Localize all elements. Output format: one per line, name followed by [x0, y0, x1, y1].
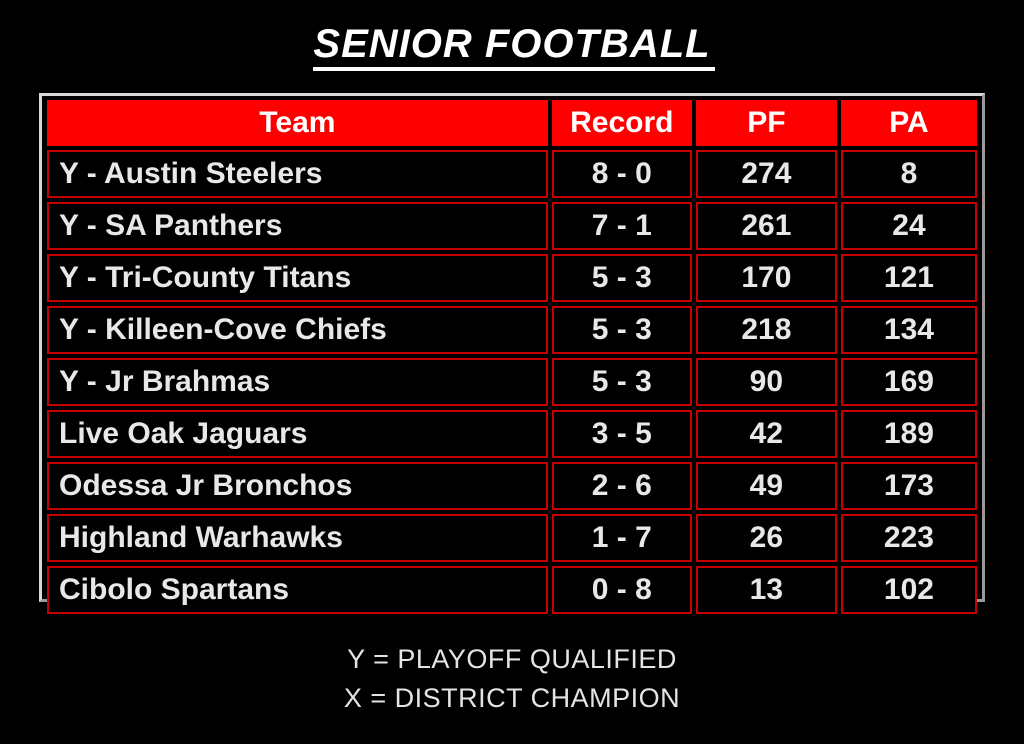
cell-pf: 274 — [696, 150, 837, 198]
cell-team: Highland Warhawks — [47, 514, 548, 562]
cell-record: 1 - 7 — [552, 514, 692, 562]
cell-pa: 134 — [841, 306, 977, 354]
cell-pf: 218 — [696, 306, 837, 354]
page-title: SENIOR FOOTBALL — [313, 23, 710, 71]
cell-record: 5 - 3 — [552, 358, 692, 406]
cell-team: Y - Tri-County Titans — [47, 254, 548, 302]
table-row[interactable]: Highland Warhawks1 - 726223 — [47, 514, 977, 562]
cell-team: Cibolo Spartans — [47, 566, 548, 614]
standings-table: Team Record PF PA Y - Austin Steelers8 -… — [47, 100, 977, 614]
cell-pf: 170 — [696, 254, 837, 302]
table-header: Team Record PF PA — [47, 100, 977, 146]
table-row[interactable]: Odessa Jr Bronchos2 - 649173 — [47, 462, 977, 510]
cell-pa: 24 — [841, 202, 977, 250]
cell-pa: 223 — [841, 514, 977, 562]
legend-line-playoff-qualified: Y = PLAYOFF QUALIFIED — [0, 640, 1024, 679]
cell-team: Y - Jr Brahmas — [47, 358, 548, 406]
cell-team: Live Oak Jaguars — [47, 410, 548, 458]
scoreboard-page: { "page": { "title": "SENIOR FOOTBALL", … — [0, 0, 1024, 744]
cell-pf: 49 — [696, 462, 837, 510]
cell-pf: 90 — [696, 358, 837, 406]
table-row[interactable]: Y - SA Panthers7 - 126124 — [47, 202, 977, 250]
cell-record: 8 - 0 — [552, 150, 692, 198]
table-row[interactable]: Y - Tri-County Titans5 - 3170121 — [47, 254, 977, 302]
column-header-team[interactable]: Team — [47, 100, 548, 146]
table-row[interactable]: Cibolo Spartans0 - 813102 — [47, 566, 977, 614]
cell-record: 2 - 6 — [552, 462, 692, 510]
cell-team: Y - SA Panthers — [47, 202, 548, 250]
table-header-row: Team Record PF PA — [47, 100, 977, 146]
column-header-record[interactable]: Record — [552, 100, 692, 146]
legend: Y = PLAYOFF QUALIFIED X = DISTRICT CHAMP… — [0, 640, 1024, 718]
column-header-pa[interactable]: PA — [841, 100, 977, 146]
cell-pa: 189 — [841, 410, 977, 458]
cell-pf: 26 — [696, 514, 837, 562]
cell-record: 5 - 3 — [552, 254, 692, 302]
cell-team: Y - Austin Steelers — [47, 150, 548, 198]
table-row[interactable]: Y - Killeen-Cove Chiefs5 - 3218134 — [47, 306, 977, 354]
column-header-pf[interactable]: PF — [696, 100, 837, 146]
cell-record: 0 - 8 — [552, 566, 692, 614]
table-body: Y - Austin Steelers8 - 02748Y - SA Panth… — [47, 146, 977, 614]
cell-pa: 8 — [841, 150, 977, 198]
table-row[interactable]: Live Oak Jaguars3 - 542189 — [47, 410, 977, 458]
cell-record: 7 - 1 — [552, 202, 692, 250]
legend-line-district-champion: X = DISTRICT CHAMPION — [0, 679, 1024, 718]
cell-pa: 169 — [841, 358, 977, 406]
cell-pa: 121 — [841, 254, 977, 302]
cell-record: 5 - 3 — [552, 306, 692, 354]
cell-team: Odessa Jr Bronchos — [47, 462, 548, 510]
cell-record: 3 - 5 — [552, 410, 692, 458]
cell-team: Y - Killeen-Cove Chiefs — [47, 306, 548, 354]
standings-table-frame: Team Record PF PA Y - Austin Steelers8 -… — [39, 93, 985, 602]
page-title-container: SENIOR FOOTBALL — [0, 0, 1024, 71]
cell-pf: 13 — [696, 566, 837, 614]
cell-pf: 261 — [696, 202, 837, 250]
table-row[interactable]: Y - Austin Steelers8 - 02748 — [47, 150, 977, 198]
cell-pf: 42 — [696, 410, 837, 458]
cell-pa: 173 — [841, 462, 977, 510]
table-row[interactable]: Y - Jr Brahmas5 - 390169 — [47, 358, 977, 406]
cell-pa: 102 — [841, 566, 977, 614]
